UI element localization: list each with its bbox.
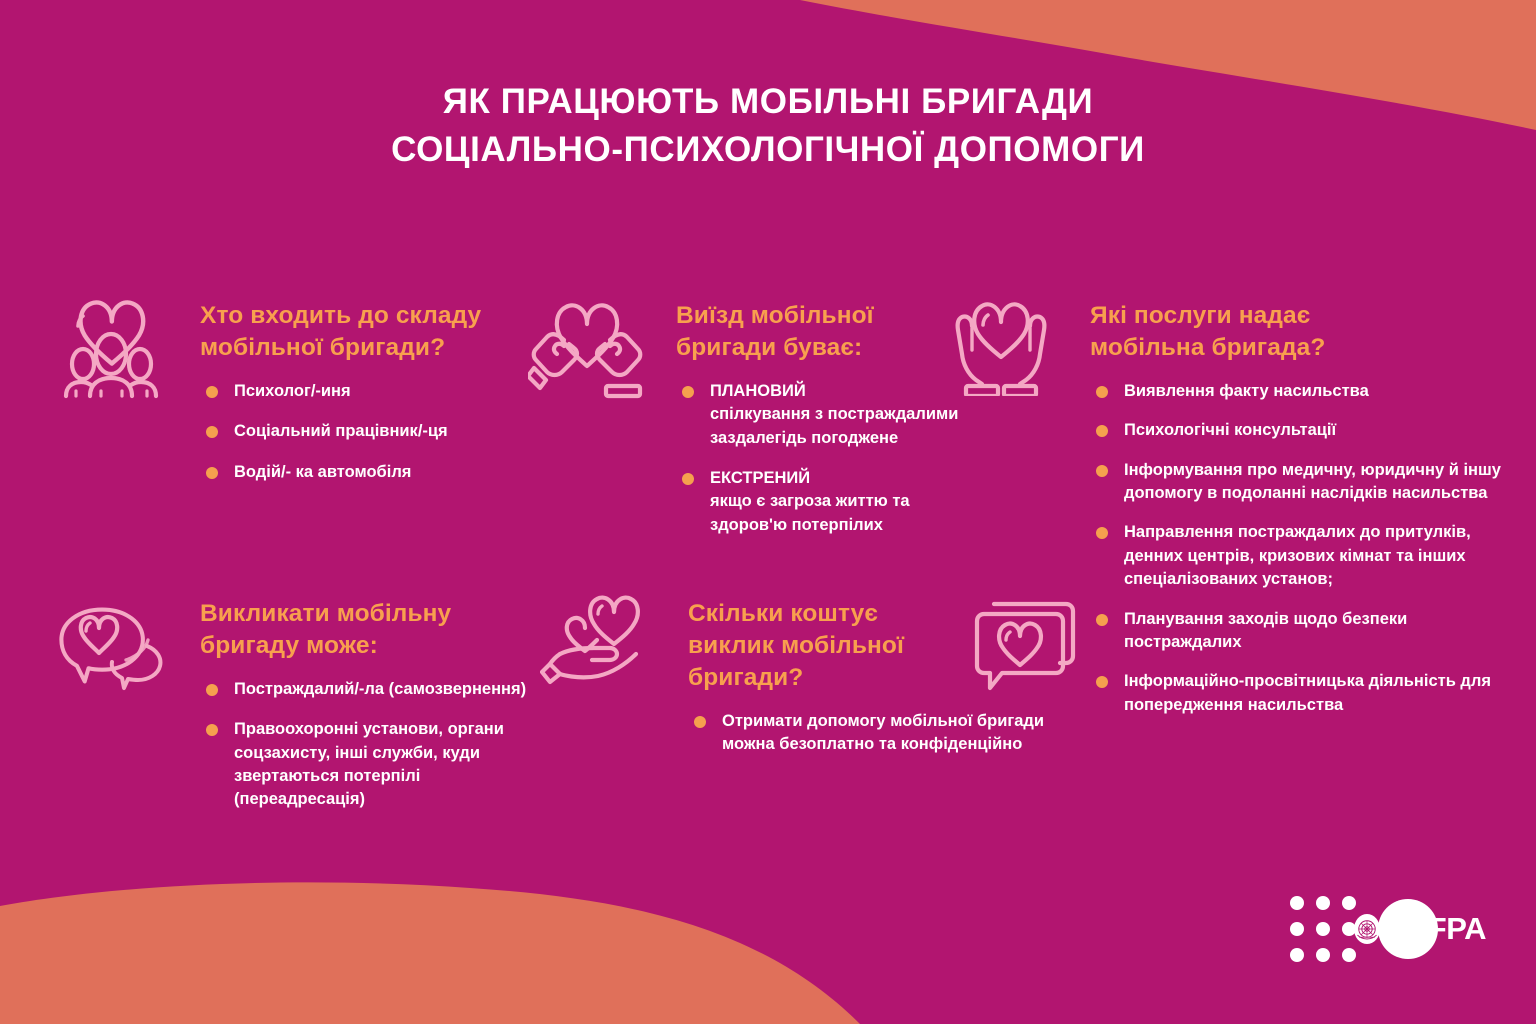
list-item-sub: якщо є загроза життю та	[710, 490, 1036, 513]
bullet-dot-icon	[206, 684, 218, 696]
list-item: Виявлення факту насильства	[1090, 380, 1510, 403]
bullet-dot-icon	[682, 386, 694, 398]
composition-heading-line1: Хто входить до складу	[200, 300, 552, 332]
hand-offering-hearts-icon	[540, 592, 658, 700]
bottom-left-coral-curve	[0, 882, 860, 1024]
services-heading-line1: Які послуги надає	[1090, 300, 1510, 332]
un-emblem-icon	[1354, 914, 1380, 944]
cost-list: Отримати допомогу мобільної бригади можн…	[688, 710, 1048, 757]
bullet-dot-icon	[1096, 527, 1108, 539]
composition-list: Психолог/-иня Соціальний працівник/-ця В…	[200, 380, 552, 484]
logo-dot-grid-icon	[1290, 896, 1356, 962]
list-item: Водій/- ка автомобіля	[200, 461, 552, 484]
list-item-label: Виявлення факту насильства	[1124, 380, 1510, 403]
chat-windows-heart-icon	[960, 588, 1082, 692]
list-item-label: Постраждалий/-ла (самозвернення)	[234, 678, 552, 701]
list-item: Інформаційно-просвітницька діяльність дл…	[1090, 670, 1510, 717]
hands-raising-heart-icon	[942, 288, 1060, 396]
list-item-sub: здоров'ю потерпілих	[710, 514, 1036, 537]
list-item-label: Інформування про медичну, юридичну й інш…	[1124, 459, 1510, 506]
bullet-dot-icon	[1096, 465, 1108, 477]
services-list: Виявлення факту насильства Психологічні …	[1090, 380, 1510, 718]
list-item: Правоохоронні установи, органи соцзахист…	[200, 718, 552, 812]
list-item-label: Отримати допомогу мобільної бригади можн…	[722, 710, 1048, 757]
who-can-call-heading: Викликати мобільну бригаду може:	[200, 598, 552, 662]
bullet-dot-icon	[1096, 425, 1108, 437]
who-can-call-heading-line1: Викликати мобільну	[200, 598, 552, 630]
list-item-label: Психолог/-иня	[234, 380, 552, 403]
who-can-call-heading-line2: бригаду може:	[200, 630, 552, 662]
list-item-label: Правоохоронні установи, органи соцзахист…	[234, 718, 552, 812]
list-item-sub: спілкування з постраждалими	[710, 403, 1036, 426]
list-item: Направлення постраждалих до притулків, д…	[1090, 521, 1510, 591]
title-line-2: СОЦІАЛЬНО-ПСИХОЛОГІЧНОЇ ДОПОМОГИ	[0, 126, 1536, 174]
bullet-dot-icon	[1096, 676, 1108, 688]
bullet-dot-icon	[206, 386, 218, 398]
bullet-dot-icon	[1096, 386, 1108, 398]
speech-bubbles-heart-icon	[52, 592, 170, 700]
page-title: ЯК ПРАЦЮЮТЬ МОБІЛЬНІ БРИГАДИ СОЦІАЛЬНО-П…	[0, 78, 1536, 175]
bullet-dot-icon	[206, 426, 218, 438]
unfpa-logo: UNFPA	[1290, 896, 1478, 962]
services-heading-line2: мобільна бригада?	[1090, 332, 1510, 364]
list-item-label: Направлення постраждалих до притулків, д…	[1124, 521, 1510, 591]
list-item: ЕКСТРЕНИЙ якщо є загроза життю та здоров…	[676, 467, 1036, 537]
composition-body: Хто входить до складу мобільної бригади?…	[200, 300, 552, 484]
bullet-dot-icon	[206, 467, 218, 479]
list-item-label: Інформаційно-просвітницька діяльність дл…	[1124, 670, 1510, 717]
list-item-label: Водій/- ка автомобіля	[234, 461, 552, 484]
bullet-dot-icon	[1096, 614, 1108, 626]
list-item-sub: заздалегідь погоджене	[710, 427, 1036, 450]
list-item: Психолог/-иня	[200, 380, 552, 403]
composition-heading-line2: мобільної бригади?	[200, 332, 552, 364]
list-item: Інформування про медичну, юридичну й інш…	[1090, 459, 1510, 506]
services-heading: Які послуги надає мобільна бригада?	[1090, 300, 1510, 364]
list-item-label: Соціальний працівник/-ця	[234, 420, 552, 443]
who-can-call-body: Викликати мобільну бригаду може: Постраж…	[200, 598, 552, 812]
list-item-label: Психологічні консультації	[1124, 419, 1510, 442]
infographic-canvas: ЯК ПРАЦЮЮТЬ МОБІЛЬНІ БРИГАДИ СОЦІАЛЬНО-П…	[0, 0, 1536, 1024]
list-item-label: ЕКСТРЕНИЙ	[710, 467, 1036, 490]
list-item: Планування заходів щодо безпеки постражд…	[1090, 608, 1510, 655]
list-item: Постраждалий/-ла (самозвернення)	[200, 678, 552, 701]
people-heart-icon	[52, 292, 170, 400]
list-item: Психологічні консультації	[1090, 419, 1510, 442]
bullet-dot-icon	[206, 724, 218, 736]
logo-wordmark: UNFPA	[1384, 911, 1486, 947]
list-item: Отримати допомогу мобільної бригади можн…	[688, 710, 1048, 757]
bullet-dot-icon	[694, 716, 706, 728]
title-line-1: ЯК ПРАЦЮЮТЬ МОБІЛЬНІ БРИГАДИ	[0, 78, 1536, 126]
logo-mark: UNFPA	[1360, 900, 1478, 958]
list-item-label: Планування заходів щодо безпеки постражд…	[1124, 608, 1510, 655]
composition-heading: Хто входить до складу мобільної бригади?	[200, 300, 552, 364]
who-can-call-list: Постраждалий/-ла (самозвернення) Правоох…	[200, 678, 552, 812]
hands-holding-heart-icon	[528, 292, 646, 400]
list-item: Соціальний працівник/-ця	[200, 420, 552, 443]
bullet-dot-icon	[682, 473, 694, 485]
visit-list: ПЛАНОВИЙ спілкування з постраждалими заз…	[676, 380, 1036, 538]
services-body: Які послуги надає мобільна бригада? Вияв…	[1090, 300, 1510, 733]
